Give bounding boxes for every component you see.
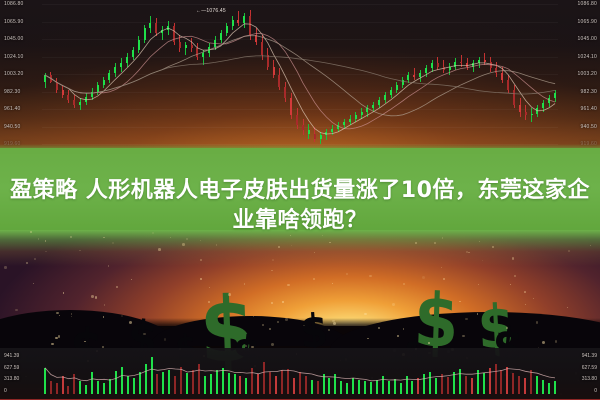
price-axis-label-right: 982.30 bbox=[581, 89, 598, 95]
headline-band-fade bbox=[0, 144, 600, 154]
volume-axis-label-right: 0 bbox=[594, 388, 597, 394]
ma-line-5 bbox=[45, 24, 555, 134]
light-particle bbox=[364, 313, 366, 315]
light-particle bbox=[91, 295, 94, 298]
price-axis-label-left: 1065.90 bbox=[4, 19, 23, 25]
light-particle bbox=[512, 257, 514, 259]
volume-ma-line bbox=[0, 348, 600, 400]
light-particle bbox=[542, 341, 545, 344]
light-particle bbox=[103, 316, 105, 318]
light-particle bbox=[200, 240, 201, 241]
price-axis-label-right: 1003.20 bbox=[578, 71, 597, 77]
light-particle bbox=[182, 243, 185, 246]
ma-line-20 bbox=[45, 36, 555, 116]
light-particle bbox=[462, 335, 464, 337]
price-axis-label-left: 1086.80 bbox=[4, 1, 23, 7]
light-particle bbox=[514, 275, 516, 277]
light-particle bbox=[45, 240, 46, 241]
light-particle bbox=[228, 293, 231, 296]
light-particle bbox=[58, 335, 60, 337]
thumbnail-image: ←—1076.45 1086.801065.901045.001024.1010… bbox=[0, 0, 600, 400]
volume-axis-label-left: 313.80 bbox=[4, 376, 19, 382]
ma-line-40 bbox=[45, 56, 555, 94]
light-particle bbox=[4, 266, 6, 268]
light-particle bbox=[287, 284, 290, 287]
ma-line-10 bbox=[45, 34, 555, 129]
light-particle bbox=[143, 333, 146, 336]
light-particle bbox=[333, 322, 336, 325]
light-particle bbox=[245, 345, 247, 347]
light-particle bbox=[434, 242, 436, 244]
price-axis-label-right: 961.40 bbox=[581, 106, 598, 112]
light-particle bbox=[158, 248, 161, 251]
volume-axis-label-left: 0 bbox=[4, 388, 7, 394]
light-particle bbox=[271, 302, 273, 304]
light-particle bbox=[208, 301, 210, 303]
volume-ma-path bbox=[45, 368, 555, 381]
price-axis-label-right: 1086.80 bbox=[578, 1, 597, 7]
volume-axis-label-right: 627.59 bbox=[582, 365, 597, 371]
light-particle bbox=[200, 259, 202, 261]
volume-axis-label-left: 941.39 bbox=[4, 353, 19, 359]
light-particle bbox=[397, 335, 399, 337]
light-particle bbox=[186, 238, 188, 240]
volume-chart-panel: 941.39627.59313.800 941.39627.59313.800 bbox=[0, 348, 600, 400]
price-axis-label-right: 940.50 bbox=[581, 124, 598, 130]
light-particle bbox=[95, 296, 97, 298]
moving-average-lines bbox=[0, 0, 600, 150]
light-particle bbox=[59, 315, 60, 316]
light-particle bbox=[15, 309, 17, 311]
light-particle bbox=[459, 301, 460, 302]
peak-annotation: ←—1076.45 bbox=[196, 8, 226, 14]
price-axis-label-left: 940.50 bbox=[4, 124, 21, 130]
volume-axis-label-left: 627.59 bbox=[4, 365, 19, 371]
light-particle bbox=[26, 262, 28, 264]
page-title: 盈策略 人形机器人电子皮肤出货量涨了10倍，东莞这家企业靠啥领跑？ bbox=[0, 176, 600, 236]
light-particle bbox=[271, 343, 274, 346]
light-particle bbox=[262, 324, 264, 326]
light-particle bbox=[328, 329, 330, 331]
light-particle bbox=[278, 246, 279, 247]
price-axis-label-left: 961.40 bbox=[4, 106, 21, 112]
light-particle bbox=[443, 278, 445, 280]
volume-axis-label-right: 313.80 bbox=[582, 376, 597, 382]
light-particle bbox=[291, 245, 292, 246]
light-particle bbox=[34, 258, 36, 260]
price-axis-label-right: 1065.90 bbox=[578, 19, 597, 25]
light-particle bbox=[422, 276, 425, 279]
light-particle bbox=[131, 279, 132, 280]
price-chart-panel: ←—1076.45 1086.801065.901045.001024.1010… bbox=[0, 0, 600, 150]
light-particle bbox=[170, 237, 171, 238]
price-axis-label-left: 1024.10 bbox=[4, 54, 23, 60]
light-particle bbox=[428, 342, 430, 344]
light-particle bbox=[38, 238, 39, 239]
light-particle bbox=[403, 328, 404, 329]
price-axis-label-left: 1045.00 bbox=[4, 36, 23, 42]
price-axis-label-right: 1024.10 bbox=[578, 54, 597, 60]
volume-axis-label-right: 941.39 bbox=[582, 353, 597, 359]
light-particle bbox=[71, 316, 72, 317]
light-particle bbox=[303, 325, 305, 327]
light-particle bbox=[524, 291, 526, 293]
light-particle bbox=[555, 340, 557, 342]
price-axis-label-left: 982.30 bbox=[4, 89, 21, 95]
light-particle bbox=[313, 278, 314, 279]
price-axis-label-left: 1003.20 bbox=[4, 71, 23, 77]
light-particle bbox=[282, 301, 284, 303]
light-particle bbox=[253, 316, 254, 317]
light-particle bbox=[269, 328, 271, 330]
light-particle bbox=[104, 304, 106, 306]
light-particle bbox=[285, 318, 288, 321]
price-axis-label-right: 1045.00 bbox=[578, 36, 597, 42]
